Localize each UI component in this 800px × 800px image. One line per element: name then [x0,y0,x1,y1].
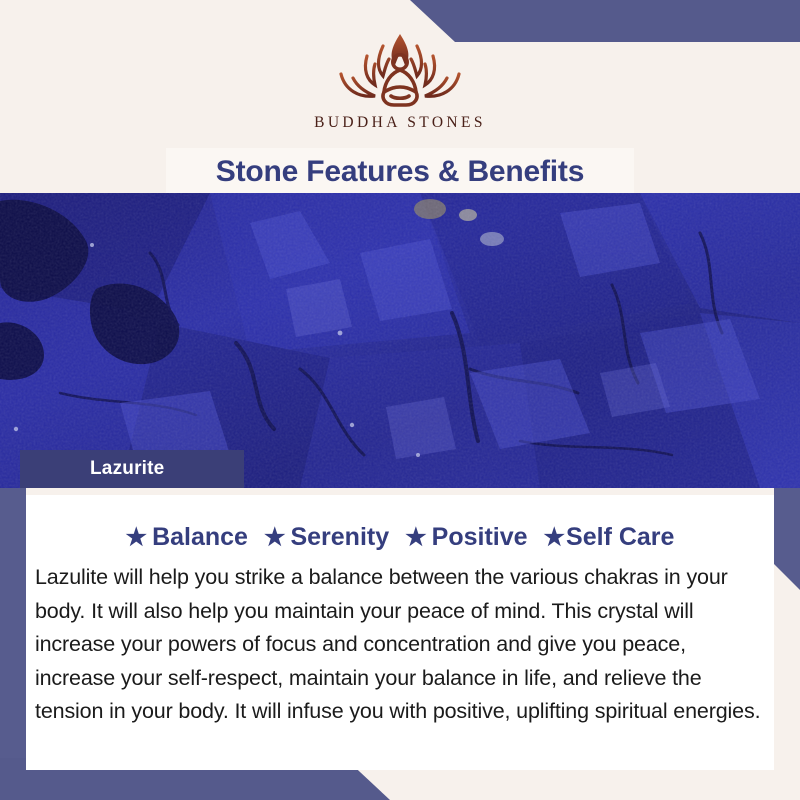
page-title: Stone Features & Benefits [216,155,584,189]
brand-name: BUDDHA STONES [0,114,800,132]
keyword-serenity: ★ Serenity [264,523,389,552]
keyword-balance: ★ Balance [126,523,248,552]
star-icon: ★ [544,526,566,550]
star-icon: ★ [126,526,148,550]
poster-canvas: BUDDHA STONES Stone Features & Benefits [0,0,800,800]
stone-name-ribbon: Lazurite [20,450,244,488]
card-top-tint [26,488,774,495]
keyword-label: Serenity [290,523,389,552]
star-icon: ★ [405,526,427,550]
keyword-positive: ★ Positive [405,523,527,552]
content-card: ★ Balance ★ Serenity ★ Positive ★ Self C… [26,488,774,770]
stone-photo [0,193,800,488]
keyword-label: Positive [432,523,528,552]
keyword-list: ★ Balance ★ Serenity ★ Positive ★ Self C… [26,523,774,552]
keyword-label: Balance [152,523,248,552]
lazurite-texture [0,193,800,488]
stone-description: Lazulite will help you strike a balance … [35,561,765,729]
keyword-label: Self Care [566,523,674,552]
frame-left-accent [0,478,26,776]
stone-name: Lazurite [90,458,164,480]
page-title-plaque: Stone Features & Benefits [166,148,634,196]
star-icon: ★ [264,526,286,550]
keyword-self-care: ★ Self Care [544,523,675,552]
